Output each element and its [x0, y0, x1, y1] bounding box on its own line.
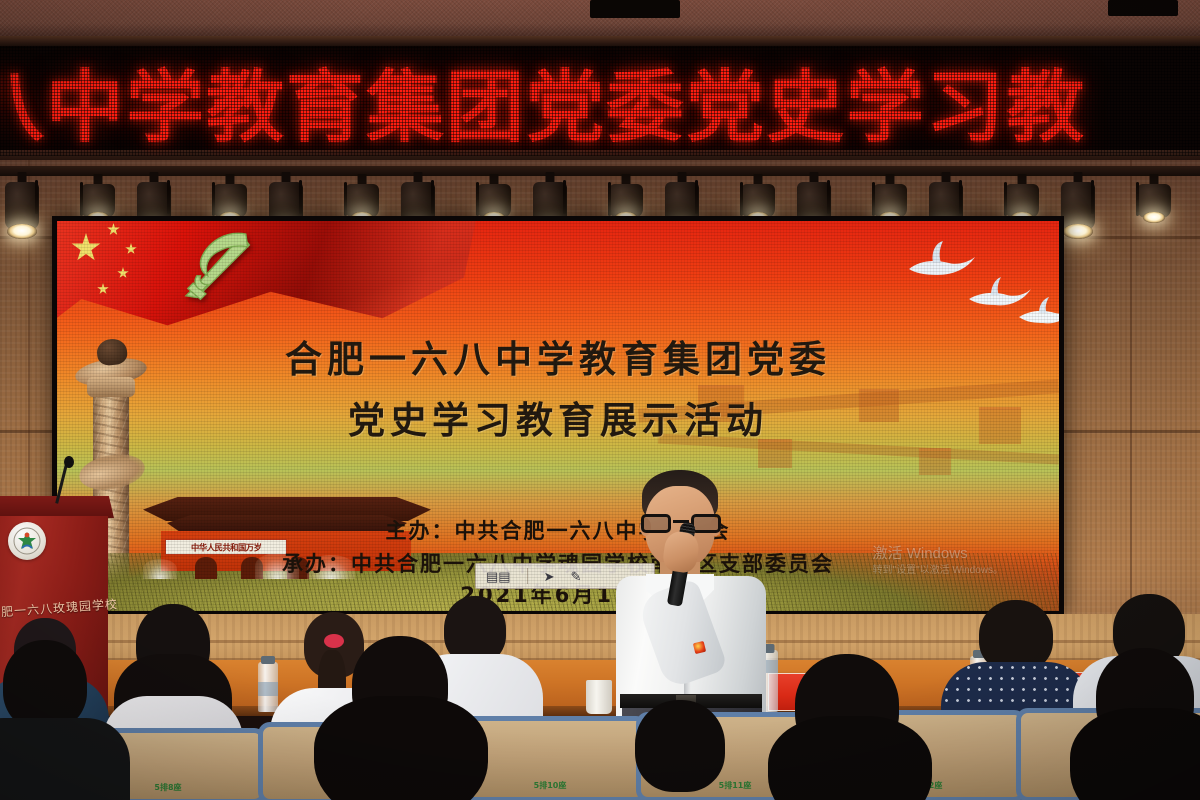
podium-microphone-icon	[64, 456, 74, 468]
chair-seat-number: 5排8座	[154, 782, 181, 793]
spotlight-cable	[1004, 182, 1007, 216]
chair-seat-number: 5排10座	[534, 780, 567, 791]
windows-activation-watermark: 激活 Windows 转到"设置"以激活 Windows。	[873, 545, 1003, 577]
spotlight-cable	[872, 182, 875, 216]
spotlight-cable	[827, 180, 830, 214]
led-screen-frame: 中华人民共和国万岁 合肥一六八中学教育集团党委 党史学习教育展示活动 主办：中共…	[52, 216, 1064, 616]
audience-member-front	[752, 654, 942, 800]
audience-member-front	[300, 636, 500, 800]
stage-spotlight	[1058, 172, 1098, 242]
spotlight-cable	[344, 182, 347, 216]
school-logo-mark	[12, 526, 42, 556]
spotlight-cable	[608, 182, 611, 216]
pointer-icon[interactable]: ➤	[544, 570, 555, 583]
audience-head	[635, 700, 725, 792]
screen-host-line: 主办：中共合肥一六八中学委员会	[57, 515, 1059, 548]
spotlight-lens	[1063, 224, 1093, 239]
ceiling-vent	[590, 0, 680, 18]
screen-title-block: 合肥一六八中学教育集团党委 党史学习教育展示活动	[57, 329, 1059, 451]
watermark-line-2: 转到"设置"以激活 Windows。	[873, 564, 1003, 577]
audience-member-front	[1060, 648, 1200, 800]
spotlight-cable	[1091, 180, 1094, 214]
conference-photo-scene: 八中学教育集团党委党史学习教	[0, 0, 1200, 800]
led-screen: 中华人民共和国万岁 合肥一六八中学教育集团党委 党史学习教育展示活动 主办：中共…	[57, 221, 1059, 611]
audience-shoulders	[0, 718, 130, 800]
spotlight-body	[5, 182, 39, 230]
hammer-and-sickle-icon	[169, 225, 261, 303]
spotlight-cable	[740, 182, 743, 216]
audience-head	[3, 640, 87, 730]
glasses-lens-right	[691, 514, 721, 533]
stage-spotlight	[1134, 174, 1174, 226]
audience-member-front	[0, 640, 120, 800]
spotlight-cable	[167, 180, 170, 214]
long-hair	[768, 716, 932, 800]
led-marquee-banner: 八中学教育集团党委党史学习教	[0, 46, 1200, 156]
audience-member-front	[600, 700, 760, 800]
spotlight-cable	[35, 180, 38, 214]
school-logo-icon	[8, 522, 46, 560]
spotlight-cable	[476, 182, 479, 216]
spotlight-lens	[1143, 212, 1165, 223]
bottle-cap	[261, 656, 275, 664]
long-hair	[314, 696, 488, 800]
toolbar-divider	[527, 568, 528, 584]
stage-spotlight	[2, 172, 42, 242]
great-wall-tower	[919, 448, 951, 475]
led-marquee-text: 八中学教育集团党委党史学习教	[0, 46, 1086, 156]
spotlight-cable	[563, 180, 566, 214]
slide-thumbnails-icon[interactable]: ▤▤	[486, 570, 511, 583]
glasses-lens-left	[641, 514, 671, 533]
screen-title-line-1: 合肥一六八中学教育集团党委	[57, 329, 1059, 390]
spotlight-cable	[212, 182, 215, 216]
watermark-line-1: 激活 Windows	[873, 545, 1003, 564]
spotlight-cable	[299, 180, 302, 214]
spotlight-lens	[7, 224, 37, 239]
huabiao-cloud-board	[77, 450, 148, 495]
ceiling-vent	[1108, 0, 1178, 16]
long-hair	[1070, 708, 1200, 800]
spotlight-cable	[695, 180, 698, 214]
pen-icon[interactable]: ✎	[570, 570, 581, 583]
spotlight-cable	[431, 180, 434, 214]
spotlight-cable	[959, 180, 962, 214]
dove-icon	[1017, 295, 1059, 331]
spotlight-cable	[80, 182, 83, 216]
spotlight-cable	[1136, 182, 1139, 216]
screen-title-line-2: 党史学习教育展示活动	[57, 390, 1059, 451]
spotlight-body	[1061, 182, 1095, 230]
bottle-label	[258, 682, 278, 696]
